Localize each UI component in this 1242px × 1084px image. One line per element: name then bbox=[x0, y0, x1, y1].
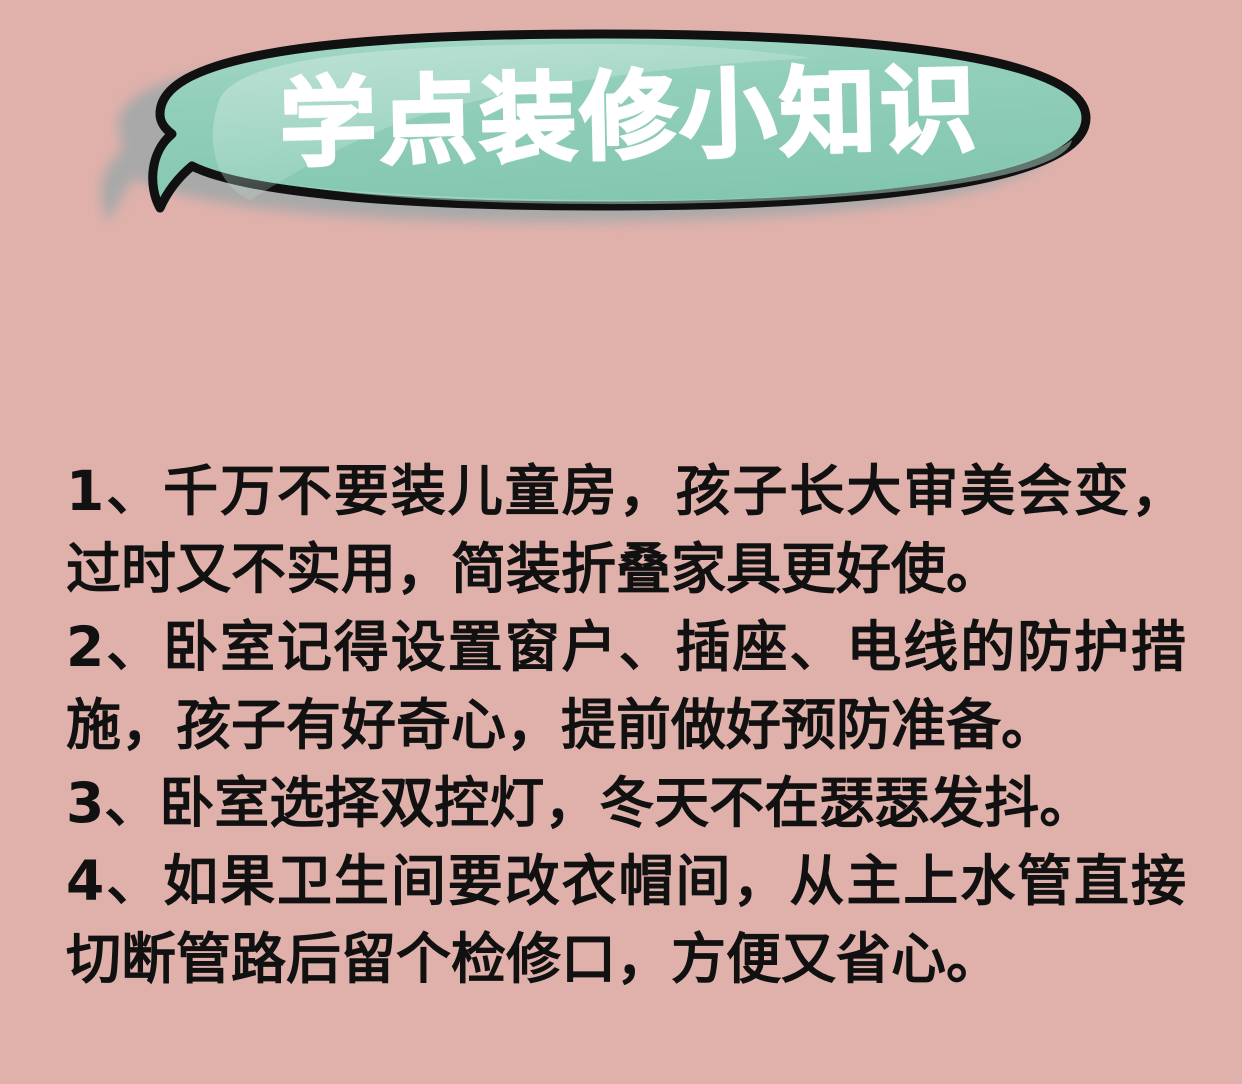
tip-item-1: 1、千万不要装儿童房，孩子长大审美会变，过时又不实用，简装折叠家具更好使。 bbox=[66, 452, 1186, 608]
poster-canvas: 学点装修小知识 1、千万不要装儿童房，孩子长大审美会变，过时又不实用，简装折叠家… bbox=[0, 0, 1242, 1084]
tip-item-2: 2、卧室记得设置窗户、插座、电线的防护措施，孩子有好奇心，提前做好预防准备。 bbox=[66, 608, 1186, 764]
speech-bubble-graphic bbox=[0, 0, 1242, 260]
tips-list: 1、千万不要装儿童房，孩子长大审美会变，过时又不实用，简装折叠家具更好使。 2、… bbox=[66, 452, 1186, 998]
title-banner: 学点装修小知识 bbox=[0, 0, 1242, 260]
tip-item-4: 4、如果卫生间要改衣帽间，从主上水管直接切断管路后留个检修口，方便又省心。 bbox=[66, 842, 1186, 998]
tip-item-3: 3、卧室选择双控灯，冬天不在瑟瑟发抖。 bbox=[66, 764, 1186, 842]
